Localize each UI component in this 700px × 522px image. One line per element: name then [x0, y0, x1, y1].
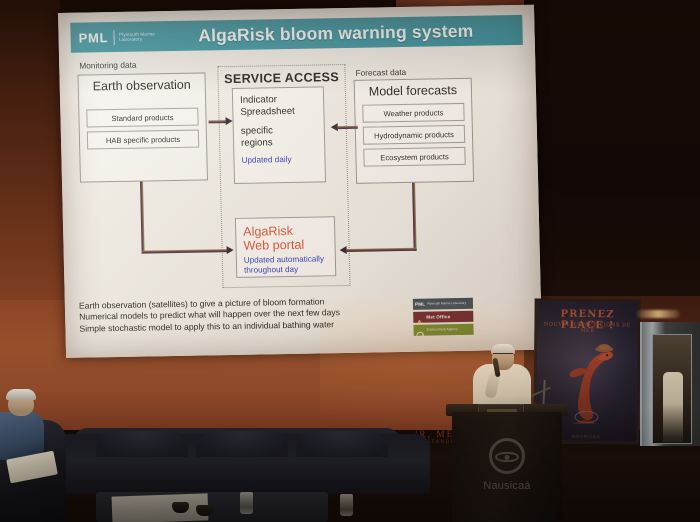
- slide-title: AlgaRisk bloom warning system: [165, 19, 523, 46]
- model-forecasts-title: Model forecasts: [355, 79, 471, 99]
- caption-monitoring-data: Monitoring data: [79, 60, 136, 71]
- model-forecasts-box: Model forecasts Weather products Hydrody…: [354, 78, 474, 184]
- projection-screen: PML Plymouth Marine Laboratory AlgaRisk …: [58, 5, 542, 358]
- sofa-cushion: [296, 431, 388, 457]
- sofa-cushion: [196, 431, 288, 457]
- earth-observation-box: Earth observation Standard products HAB …: [77, 72, 208, 182]
- nausicaa-logo-pupil-icon: [505, 455, 510, 460]
- model-forecasts-item-0: Weather products: [362, 103, 464, 123]
- partner-logo-environment-agency: Environment Agency: [413, 324, 473, 336]
- caption-forecast-data: Forecast data: [355, 67, 406, 78]
- partner-logo-stack: PML Plymouth Marine Laboratory Met Offic…: [413, 298, 474, 338]
- portal-update-status-2: throughout day: [244, 264, 328, 275]
- room-wall-right-dark: [524, 0, 700, 300]
- portal-line-2: Web portal: [243, 237, 327, 252]
- screenshot-root: VEUILL PLEASE CH TI /R, MERCI STANDING P…: [0, 0, 700, 522]
- indicator-line-4: regions: [241, 136, 317, 149]
- drinking-glass: [340, 494, 353, 516]
- indicator-spreadsheet-card: Indicator Spreadsheet specific regions U…: [232, 86, 326, 184]
- earth-observation-item-0: Standard products: [86, 108, 198, 128]
- seated-person-hair: [6, 389, 36, 400]
- earth-observation-item-1: HAB specific products: [87, 130, 199, 150]
- partner-logo-met-office: Met Office: [413, 311, 473, 323]
- partner-logo-met-office-label: Met Office: [426, 314, 450, 319]
- environment-agency-mark-icon: [415, 326, 424, 334]
- ceiling-light: [636, 310, 680, 318]
- arrow-forecast-to-portal-vertical: [412, 183, 417, 251]
- pml-logo-mark: PML: [78, 30, 108, 46]
- cup: [172, 502, 189, 513]
- partner-logo-pml-label: PML: [415, 302, 425, 307]
- background-person-doorway: [663, 372, 683, 442]
- model-forecasts-item-2: Ecosystem products: [363, 147, 465, 167]
- drinking-glass: [240, 492, 253, 514]
- model-forecasts-item-1: Hydrodynamic products: [363, 125, 465, 145]
- partner-logo-environment-agency-label: Environment Agency: [427, 328, 458, 332]
- presentation-slide: PML Plymouth Marine Laboratory AlgaRisk …: [58, 5, 542, 358]
- portal-update-status-1: Updated automatically: [244, 254, 328, 265]
- cup: [196, 505, 213, 516]
- slide-summary-text: Earth observation (satellites) to give a…: [79, 295, 410, 335]
- arrow-eo-to-portal-vertical: [140, 182, 145, 254]
- arrow-forecast-to-portal-horizontal: [347, 248, 417, 253]
- poster-subtitle: NOUVEL ESPACE LIONS DE MER: [537, 321, 637, 334]
- speaker-glasses-icon: [493, 353, 513, 357]
- slide-title-bar: PML Plymouth Marine Laboratory AlgaRisk …: [70, 15, 523, 53]
- arrow-eo-to-indicator-head: [225, 117, 232, 125]
- earth-observation-title: Earth observation: [78, 73, 204, 93]
- arrow-eo-to-portal-horizontal: [142, 249, 228, 254]
- arrow-forecast-to-indicator-head: [331, 123, 338, 131]
- arrow-forecast-to-portal-head: [340, 246, 347, 254]
- pml-logo-divider: [113, 30, 114, 45]
- indicator-update-status: Updated daily: [241, 154, 317, 165]
- table-cloth: [112, 493, 209, 522]
- met-office-mark-icon: [415, 313, 424, 321]
- pml-logo: PML Plymouth Marine Laboratory: [70, 29, 165, 46]
- partner-logo-pml: PML Plymouth Marine Laboratory: [413, 298, 473, 310]
- poster-logo-icon: [574, 411, 598, 423]
- service-access-title: SERVICE ACCESS: [218, 70, 344, 86]
- arrow-forecast-to-indicator: [338, 126, 358, 130]
- arrow-eo-to-portal-head: [227, 246, 234, 254]
- sofa-cushion: [96, 431, 188, 457]
- pml-logo-subtitle: Plymouth Marine Laboratory: [119, 31, 165, 42]
- podium-label: Nausicaá: [452, 480, 562, 492]
- algarisk-web-portal-card: AlgaRisk Web portal Updated automaticall…: [235, 216, 336, 278]
- nausicaa-podium: Nausicaá: [452, 412, 562, 522]
- arrow-eo-to-indicator: [209, 120, 227, 124]
- portal-line-1: AlgaRisk: [243, 223, 327, 238]
- partner-logo-pml-sublabel: Plymouth Marine Laboratory: [427, 302, 466, 306]
